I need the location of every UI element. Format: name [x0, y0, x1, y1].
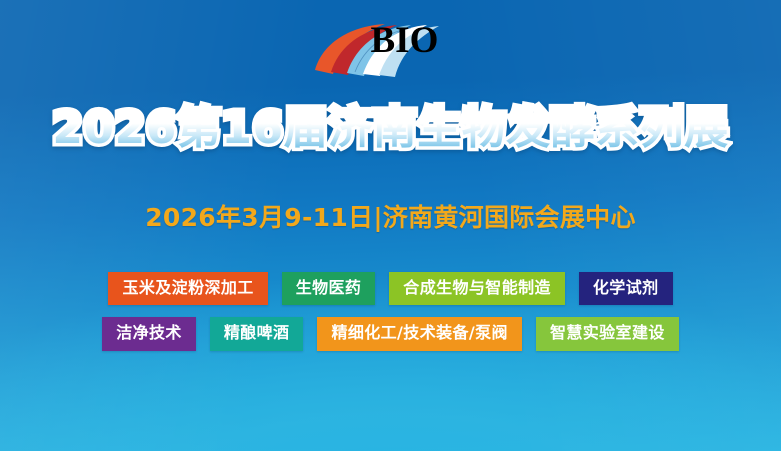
topic-tag[interactable]: 玉米及淀粉深加工	[108, 272, 267, 305]
page-title: 2026第16届济南生物发酵系列展 2026第16届济南生物发酵系列展	[52, 104, 728, 153]
exhibition-banner: BIO 2026第16届济南生物发酵系列展 2026第16届济南生物发酵系列展 …	[0, 0, 781, 451]
date-venue-line: 2026年3月9-11日|济南黄河国际会展中心	[0, 198, 781, 234]
title-area: 2026第16届济南生物发酵系列展 2026第16届济南生物发酵系列展	[0, 104, 781, 153]
bio-logo: BIO	[307, 16, 475, 84]
topic-tag[interactable]: 精酿啤酒	[210, 317, 304, 350]
topic-tag[interactable]: 精细化工/技术装备/泵阀	[317, 317, 522, 350]
topic-tag-row-2: 洁净技术 精酿啤酒 精细化工/技术装备/泵阀 智慧实验室建设	[40, 317, 741, 350]
topic-tag-list: 玉米及淀粉深加工 生物医药 合成生物与智能制造 化学试剂 洁净技术 精酿啤酒 精…	[40, 272, 741, 363]
page-title-fill: 2026第16届济南生物发酵系列展	[52, 104, 728, 153]
logo-brand-text: BIO	[371, 22, 439, 59]
topic-tag[interactable]: 智慧实验室建设	[536, 317, 679, 350]
topic-tag[interactable]: 生物医药	[282, 272, 376, 305]
topic-tag[interactable]: 化学试剂	[579, 272, 673, 305]
topic-tag-row-1: 玉米及淀粉深加工 生物医药 合成生物与智能制造 化学试剂	[40, 272, 741, 305]
topic-tag[interactable]: 合成生物与智能制造	[389, 272, 565, 305]
logo-area: BIO	[0, 14, 781, 86]
topic-tag[interactable]: 洁净技术	[102, 317, 196, 350]
